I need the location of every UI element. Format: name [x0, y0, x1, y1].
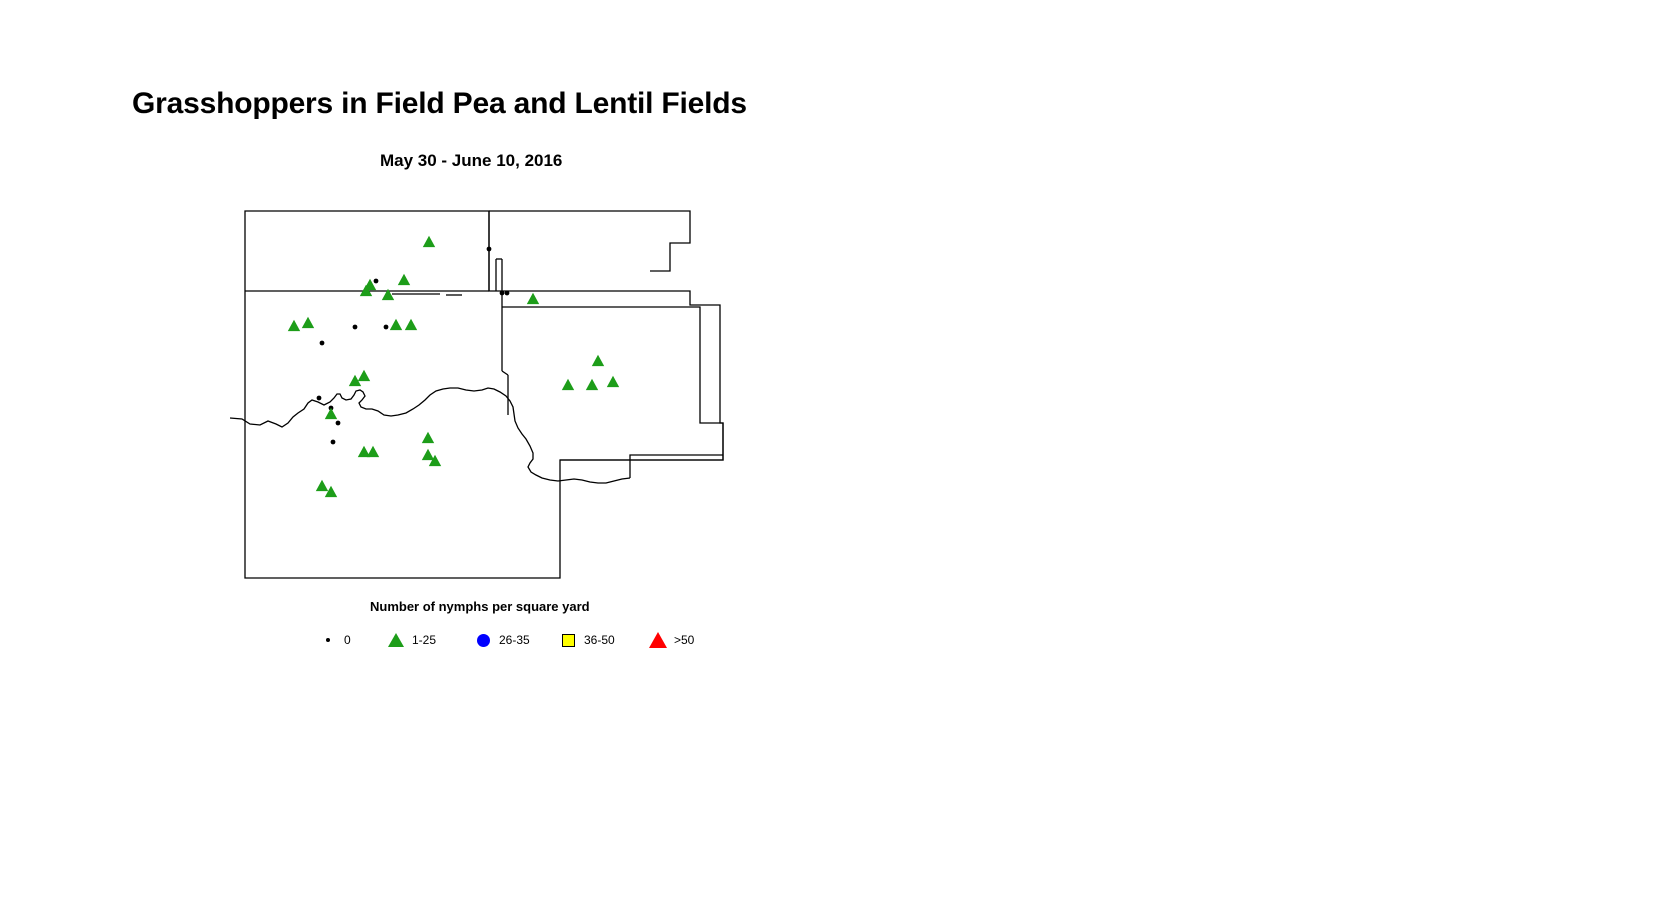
legend-item-1-25: 1-25 [386, 628, 436, 652]
circle-glyph [477, 634, 490, 647]
map-point-1-25 [325, 408, 337, 419]
state-outline-northwest [245, 211, 723, 578]
map-boundaries [230, 211, 723, 578]
map-figure [230, 195, 750, 595]
legend-item--50: >50 [648, 628, 694, 652]
map-point-1-25 [325, 486, 337, 497]
map-point-0 [320, 341, 325, 346]
map-point-0 [500, 291, 505, 296]
map-point-1-25 [586, 379, 598, 390]
map-point-0 [374, 279, 379, 284]
map-point-1-25 [562, 379, 574, 390]
map-point-0 [317, 396, 322, 401]
map-point-0 [384, 325, 389, 330]
map-point-1-25 [316, 480, 328, 491]
data-points [288, 236, 619, 497]
dot-glyph [326, 638, 330, 642]
legend-symbol-triangle-icon [386, 630, 406, 650]
legend: 01-2526-3536-50>50 [318, 628, 738, 652]
map-point-1-25 [358, 370, 370, 381]
map-point-0 [487, 247, 492, 252]
triangle-glyph [388, 633, 404, 647]
map-point-1-25 [398, 274, 410, 285]
legend-label: >50 [674, 634, 694, 646]
legend-symbol-dot-icon [318, 630, 338, 650]
map-point-1-25 [302, 317, 314, 328]
legend-item-36-50: 36-50 [558, 628, 615, 652]
map-point-1-25 [288, 320, 300, 331]
map-point-0 [336, 421, 341, 426]
legend-symbol-circle-icon [473, 630, 493, 650]
map-svg [230, 195, 750, 595]
legend-title: Number of nymphs per square yard [370, 600, 590, 613]
state-outline-northeast [489, 211, 690, 271]
map-page: Grasshoppers in Field Pea and Lentil Fie… [0, 0, 1673, 900]
map-point-1-25 [607, 376, 619, 387]
page-subtitle: May 30 - June 10, 2016 [380, 152, 562, 169]
legend-label: 26-35 [499, 634, 530, 646]
legend-symbol-square-icon [558, 630, 578, 650]
legend-symbol-triangle-large-icon [648, 630, 668, 650]
map-point-1-25 [422, 449, 434, 460]
map-point-1-25 [367, 446, 379, 457]
map-point-1-25 [422, 432, 434, 443]
legend-label: 36-50 [584, 634, 615, 646]
map-point-0 [505, 291, 510, 296]
page-title: Grasshoppers in Field Pea and Lentil Fie… [132, 89, 747, 119]
map-point-0 [331, 440, 336, 445]
triangle-large-glyph [649, 632, 667, 648]
map-point-1-25 [423, 236, 435, 247]
square-glyph [562, 634, 575, 647]
map-point-1-25 [405, 319, 417, 330]
map-point-1-25 [527, 293, 539, 304]
county-line-southeast-step [630, 455, 723, 478]
map-point-0 [353, 325, 358, 330]
legend-label: 1-25 [412, 634, 436, 646]
map-point-1-25 [592, 355, 604, 366]
map-point-1-25 [390, 319, 402, 330]
legend-item-26-35: 26-35 [473, 628, 530, 652]
legend-item-0: 0 [318, 628, 351, 652]
legend-label: 0 [344, 634, 351, 646]
county-line-ne-stub-f [502, 371, 508, 375]
